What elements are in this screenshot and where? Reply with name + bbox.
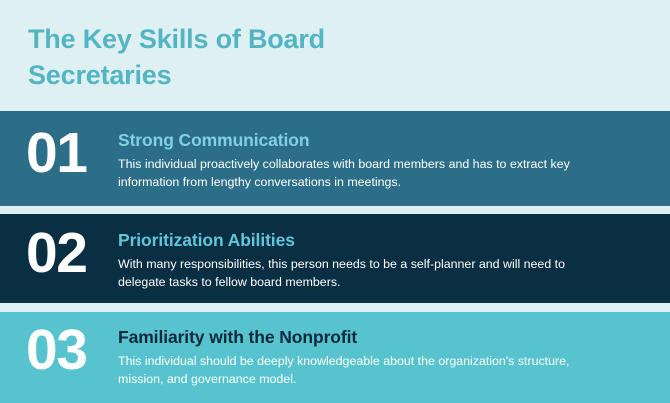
skill-content-01: Strong Communication This individual pro… bbox=[118, 124, 646, 191]
skill-number-01: 01 bbox=[26, 126, 118, 180]
skill-heading-03: Familiarity with the Nonprofit bbox=[118, 327, 646, 348]
skill-description-02: With many responsibilities, this person … bbox=[118, 256, 588, 291]
skill-content-02: Prioritization Abilities With many respo… bbox=[118, 224, 646, 291]
infographic-root: The Key Skills of Board Secretaries 01 S… bbox=[0, 0, 670, 403]
section-divider-2 bbox=[0, 303, 670, 312]
skill-section-03: 03 Familiarity with the Nonprofit This i… bbox=[0, 312, 670, 403]
skill-section-02: 02 Prioritization Abilities With many re… bbox=[0, 214, 670, 303]
skill-content-03: Familiarity with the Nonprofit This indi… bbox=[118, 321, 646, 388]
section-divider-1 bbox=[0, 206, 670, 214]
header: The Key Skills of Board Secretaries bbox=[0, 0, 670, 111]
skill-description-01: This individual proactively collaborates… bbox=[118, 156, 588, 191]
page-title: The Key Skills of Board Secretaries bbox=[28, 22, 458, 93]
skill-heading-01: Strong Communication bbox=[118, 130, 646, 151]
skill-section-01: 01 Strong Communication This individual … bbox=[0, 111, 670, 206]
skill-description-03: This individual should be deeply knowled… bbox=[118, 353, 588, 388]
skill-number-02: 02 bbox=[26, 226, 118, 280]
skill-heading-02: Prioritization Abilities bbox=[118, 230, 646, 251]
skill-number-03: 03 bbox=[26, 323, 118, 377]
